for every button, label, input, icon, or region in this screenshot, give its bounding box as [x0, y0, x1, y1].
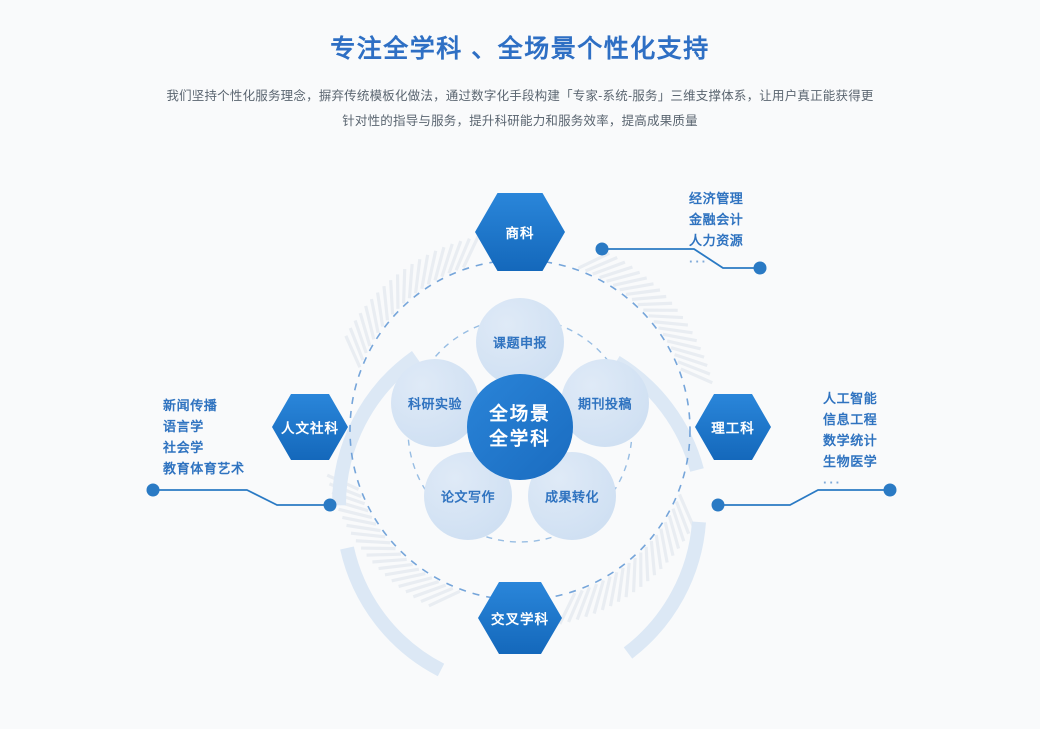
connector-dot-right-outer	[884, 484, 897, 497]
tick-mark	[404, 269, 405, 303]
tick-mark	[646, 547, 648, 581]
connector-dot-right-inner	[712, 499, 725, 512]
branch-item: 信息工程	[823, 409, 877, 430]
branch-list-right: 人工智能 信息工程 数学统计 生物医学 ···	[823, 388, 877, 493]
tick-mark	[361, 548, 395, 549]
page-root: 专注全学科 、全场景个性化支持 我们坚持个性化服务理念，摒弃传统模板化做法，通过…	[0, 0, 1040, 729]
tick-mark	[626, 563, 629, 597]
hexagon-top[interactable]	[475, 193, 565, 271]
tick-mark	[379, 564, 413, 568]
tick-mark	[560, 593, 575, 624]
connector-dot-top-right-outer	[754, 262, 767, 275]
branch-item: 新闻传播	[163, 395, 245, 416]
tick-mark	[384, 286, 388, 320]
center-label-line2: 全学科	[489, 427, 551, 452]
tick-mark	[618, 568, 623, 602]
connector-line-left	[153, 490, 330, 505]
tick-mark	[620, 284, 654, 290]
tick-mark	[638, 303, 672, 304]
branch-ellipsis: ···	[689, 251, 743, 272]
tick-mark	[421, 588, 453, 601]
tick-mark	[681, 369, 712, 383]
tick-mark	[351, 533, 385, 537]
tick-mark	[356, 541, 390, 543]
tick-mark	[346, 525, 380, 530]
hexagon-left[interactable]	[272, 394, 348, 460]
tick-mark	[634, 558, 636, 592]
discipline-diagram: 商科 人文社科 理工科 交叉学科 课题申报 科研实验 期刊投稿 论文写作 成果转…	[0, 150, 1040, 710]
tick-mark	[422, 255, 428, 289]
tick-mark	[372, 559, 406, 562]
branch-ellipsis: ···	[823, 472, 877, 493]
petal-label-right: 期刊投稿	[578, 394, 632, 413]
petal-label-left: 科研实验	[408, 394, 462, 413]
hexagon-bottom[interactable]	[478, 582, 562, 654]
header: 专注全学科 、全场景个性化支持 我们坚持个性化服务理念，摒弃传统模板化做法，通过…	[0, 0, 1040, 134]
branch-item: 人力资源	[689, 230, 743, 251]
branch-item: 语言学	[163, 416, 245, 437]
branch-item: 人工智能	[823, 388, 877, 409]
tick-mark	[391, 280, 393, 314]
connector-dot-top-right-inner	[596, 243, 609, 256]
tick-mark	[346, 336, 360, 367]
tick-mark	[651, 541, 654, 575]
tick-mark	[463, 236, 478, 267]
petal-label-top: 课题申报	[493, 333, 547, 352]
center-label: 全场景 全学科	[489, 402, 551, 452]
hexagon-right[interactable]	[695, 394, 771, 460]
tick-mark	[416, 259, 420, 293]
branch-item: 经济管理	[689, 188, 743, 209]
tick-mark	[656, 535, 661, 569]
tick-mark	[378, 292, 383, 326]
connector-dot-left-outer	[147, 484, 160, 497]
tick-mark	[679, 494, 693, 526]
page-subtitle: 我们坚持个性化服务理念，摒弃传统模板化做法，通过数字化手段构建「专家-系统-服务…	[162, 84, 878, 134]
branch-item: 数学统计	[823, 430, 877, 451]
tick-mark	[586, 258, 618, 271]
tick-mark	[658, 328, 692, 333]
center-label-line1: 全场景	[489, 402, 551, 427]
branch-list-top-right: 经济管理 金融会计 人力资源 ···	[689, 188, 743, 272]
tick-mark	[649, 316, 683, 318]
branch-list-left: 新闻传播 语言学 社会学 教育体育艺术	[163, 395, 245, 479]
tick-mark	[385, 569, 419, 575]
petal-label-bottom-left: 论文写作	[441, 487, 495, 506]
petal-label-bottom-right: 成果转化	[545, 487, 599, 506]
branch-item: 教育体育艺术	[163, 458, 245, 479]
tick-mark	[409, 264, 412, 298]
tick-mark	[367, 554, 401, 555]
branch-item: 社会学	[163, 437, 245, 458]
branch-item: 生物医学	[823, 451, 877, 472]
tick-mark	[654, 322, 688, 325]
tick-mark	[632, 296, 666, 299]
page-title: 专注全学科 、全场景个性化支持	[0, 34, 1040, 64]
tick-mark	[626, 290, 660, 294]
tick-mark	[661, 529, 667, 563]
branch-item: 金融会计	[689, 209, 743, 230]
connector-dot-left-inner	[324, 499, 337, 512]
